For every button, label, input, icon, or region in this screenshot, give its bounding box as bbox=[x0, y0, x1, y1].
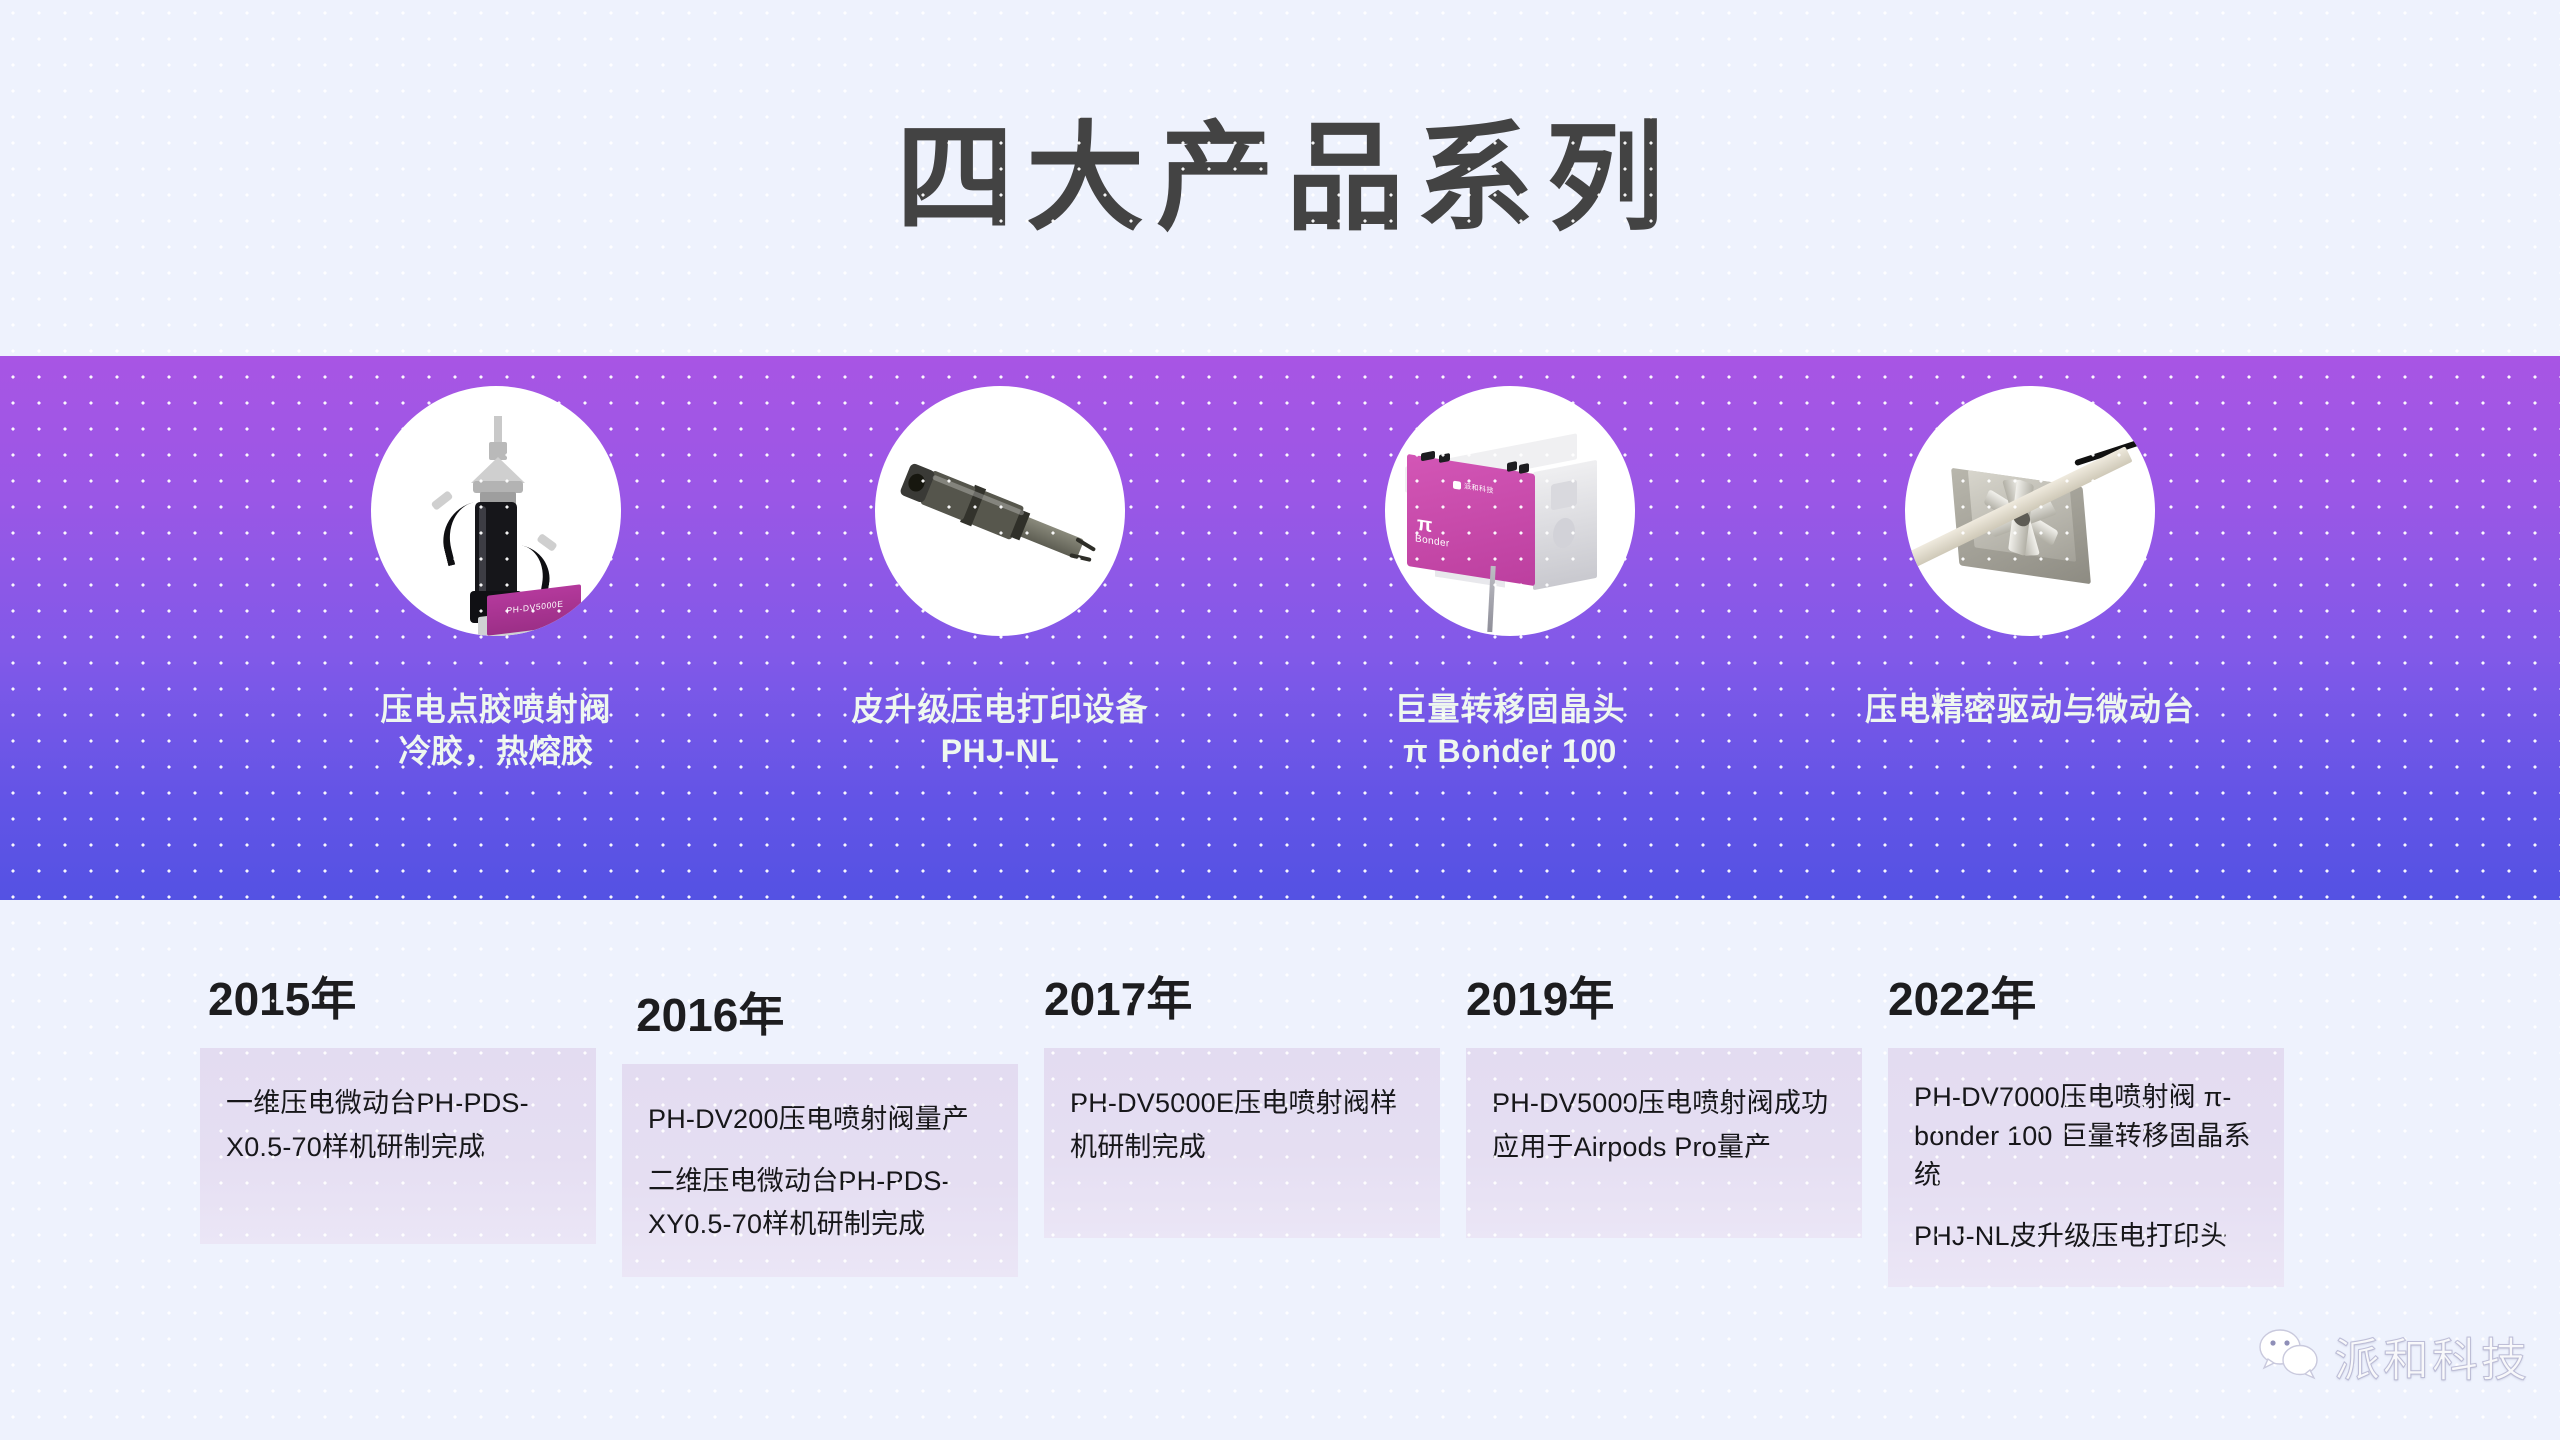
product-list: PH-DV5000E 压电点胶喷射阀 冷胶，热熔胶 bbox=[0, 356, 2560, 900]
product-item-print-head[interactable]: 皮升级压电打印设备 PHJ-NL bbox=[730, 386, 1270, 772]
bonder-illustration: 派和科技 π Bonder bbox=[1385, 386, 1635, 636]
product-name: 皮升级压电打印设备 bbox=[851, 688, 1148, 730]
wechat-icon bbox=[2258, 1327, 2320, 1388]
timeline-text: PH-DV5000E压电喷射阀样机研制完成 bbox=[1070, 1082, 1414, 1169]
jetting-valve-illustration: PH-DV5000E bbox=[371, 386, 621, 636]
watermark: 派和科技 bbox=[2258, 1324, 2530, 1390]
product-subtitle: π Bonder 100 bbox=[1394, 730, 1625, 772]
page-header: 四大产品系列 bbox=[0, 0, 2560, 356]
product-item-bonder[interactable]: 派和科技 π Bonder 巨量转移固晶头 π Bonder 100 bbox=[1240, 386, 1780, 772]
product-item-jetting-valve[interactable]: PH-DV5000E 压电点胶喷射阀 冷胶，热熔胶 bbox=[226, 386, 766, 772]
timeline-entry-2017[interactable]: 2017年 PH-DV5000E压电喷射阀样机研制完成 bbox=[1044, 976, 1440, 1287]
timeline-section: 2015年 一维压电微动台PH-PDS-X0.5-70样机研制完成 2016年 … bbox=[0, 900, 2560, 1440]
product-image-bonder: 派和科技 π Bonder bbox=[1385, 386, 1635, 636]
product-subtitle: 冷胶，热熔胶 bbox=[380, 730, 611, 772]
product-name: 巨量转移固晶头 bbox=[1394, 688, 1625, 730]
timeline-year: 2017年 bbox=[1044, 976, 1440, 1022]
timeline-entry-2019[interactable]: 2019年 PH-DV5000压电喷射阀成功应用于Airpods Pro量产 bbox=[1466, 976, 1862, 1287]
timeline-year: 2022年 bbox=[1888, 976, 2284, 1022]
product-subtitle: PHJ-NL bbox=[851, 730, 1148, 772]
page-title: 四大产品系列 bbox=[884, 119, 1676, 237]
product-image-jetting-valve: PH-DV5000E bbox=[371, 386, 621, 636]
timeline-year: 2015年 bbox=[208, 976, 596, 1022]
timeline-card: PH-DV7000压电喷射阀 π-bonder 100 巨量转移固晶系统 PHJ… bbox=[1888, 1048, 2284, 1287]
micro-stage-illustration bbox=[1905, 386, 2155, 636]
product-caption-print-head: 皮升级压电打印设备 PHJ-NL bbox=[851, 688, 1148, 772]
product-caption-jetting-valve: 压电点胶喷射阀 冷胶，热熔胶 bbox=[380, 688, 611, 772]
timeline-card: 一维压电微动台PH-PDS-X0.5-70样机研制完成 bbox=[200, 1048, 596, 1244]
timeline-year: 2019年 bbox=[1466, 976, 1862, 1022]
product-caption-micro-stage: 压电精密驱动与微动台 bbox=[1865, 688, 2195, 730]
timeline-entry-2016[interactable]: 2016年 PH-DV200压电喷射阀量产 二维压电微动台PH-PDS-XY0.… bbox=[622, 976, 1018, 1287]
timeline-entry-2022[interactable]: 2022年 PH-DV7000压电喷射阀 π-bonder 100 巨量转移固晶… bbox=[1888, 976, 2284, 1287]
timeline-text: PH-DV5000压电喷射阀成功应用于Airpods Pro量产 bbox=[1492, 1082, 1836, 1169]
product-caption-bonder: 巨量转移固晶头 π Bonder 100 bbox=[1394, 688, 1625, 772]
timeline-card: PH-DV200压电喷射阀量产 二维压电微动台PH-PDS-XY0.5-70样机… bbox=[622, 1064, 1018, 1277]
print-head-illustration bbox=[875, 386, 1125, 636]
timeline-card: PH-DV5000E压电喷射阀样机研制完成 bbox=[1044, 1048, 1440, 1238]
product-image-print-head bbox=[875, 386, 1125, 636]
timeline-text: PHJ-NL皮升级压电打印头 bbox=[1914, 1217, 2258, 1256]
timeline-card: PH-DV5000压电喷射阀成功应用于Airpods Pro量产 bbox=[1466, 1048, 1862, 1238]
timeline-text: 二维压电微动台PH-PDS-XY0.5-70样机研制完成 bbox=[648, 1160, 992, 1247]
timeline-text: PH-DV200压电喷射阀量产 bbox=[648, 1098, 992, 1142]
product-image-micro-stage bbox=[1905, 386, 2155, 636]
product-series-band: PH-DV5000E 压电点胶喷射阀 冷胶，热熔胶 bbox=[0, 356, 2560, 900]
timeline-text: 一维压电微动台PH-PDS-X0.5-70样机研制完成 bbox=[226, 1082, 570, 1169]
product-item-micro-stage[interactable]: 压电精密驱动与微动台 bbox=[1760, 386, 2300, 730]
product-name: 压电精密驱动与微动台 bbox=[1865, 688, 2195, 730]
timeline-year: 2016年 bbox=[636, 992, 1018, 1038]
timeline-text: PH-DV7000压电喷射阀 π-bonder 100 巨量转移固晶系统 bbox=[1914, 1078, 2258, 1195]
product-name: 压电点胶喷射阀 bbox=[380, 688, 611, 730]
timeline-list: 2015年 一维压电微动台PH-PDS-X0.5-70样机研制完成 2016年 … bbox=[200, 976, 2360, 1287]
watermark-text: 派和科技 bbox=[2334, 1324, 2530, 1390]
timeline-entry-2015[interactable]: 2015年 一维压电微动台PH-PDS-X0.5-70样机研制完成 bbox=[200, 976, 596, 1287]
